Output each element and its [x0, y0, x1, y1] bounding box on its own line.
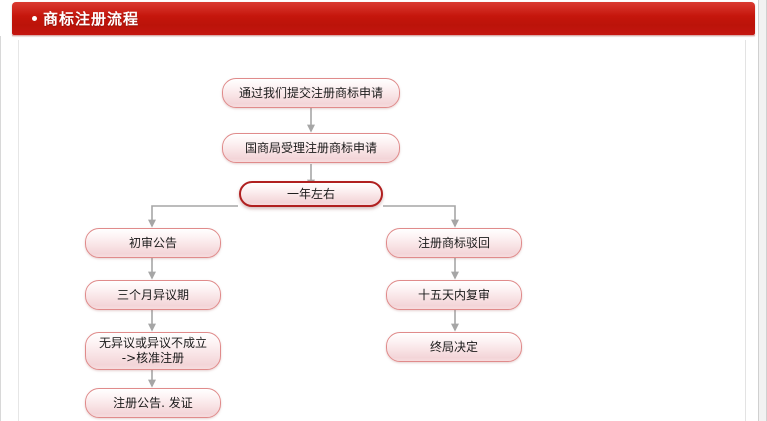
- page-title: 商标注册流程: [43, 8, 139, 30]
- flowchart: 通过我们提交注册商标申请 国商局受理注册商标申请 一年左右 初审公告 注册商标驳…: [0, 36, 767, 421]
- flow-node-accept[interactable]: 国商局受理注册商标申请: [222, 133, 400, 163]
- flow-node-submit[interactable]: 通过我们提交注册商标申请: [222, 78, 400, 108]
- bullet-dot-icon: [32, 16, 37, 21]
- page-root: 商标注册流程: [0, 0, 767, 421]
- flow-node-rejected[interactable]: 注册商标驳回: [386, 228, 522, 258]
- flow-node-final-ruling[interactable]: 终局决定: [386, 332, 522, 362]
- flow-node-reg-notice[interactable]: 注册公告. 发证: [85, 388, 221, 418]
- flow-node-three-month[interactable]: 三个月异议期: [85, 280, 221, 310]
- flow-node-one-year[interactable]: 一年左右: [239, 181, 383, 207]
- section-header-bar: 商标注册流程: [12, 2, 755, 35]
- flow-node-prelim-notice[interactable]: 初审公告: [85, 228, 221, 258]
- flow-node-approved[interactable]: 无异议或异议不成立 ->核准注册: [85, 332, 221, 370]
- flow-node-review-15days[interactable]: 十五天内复审: [386, 280, 522, 310]
